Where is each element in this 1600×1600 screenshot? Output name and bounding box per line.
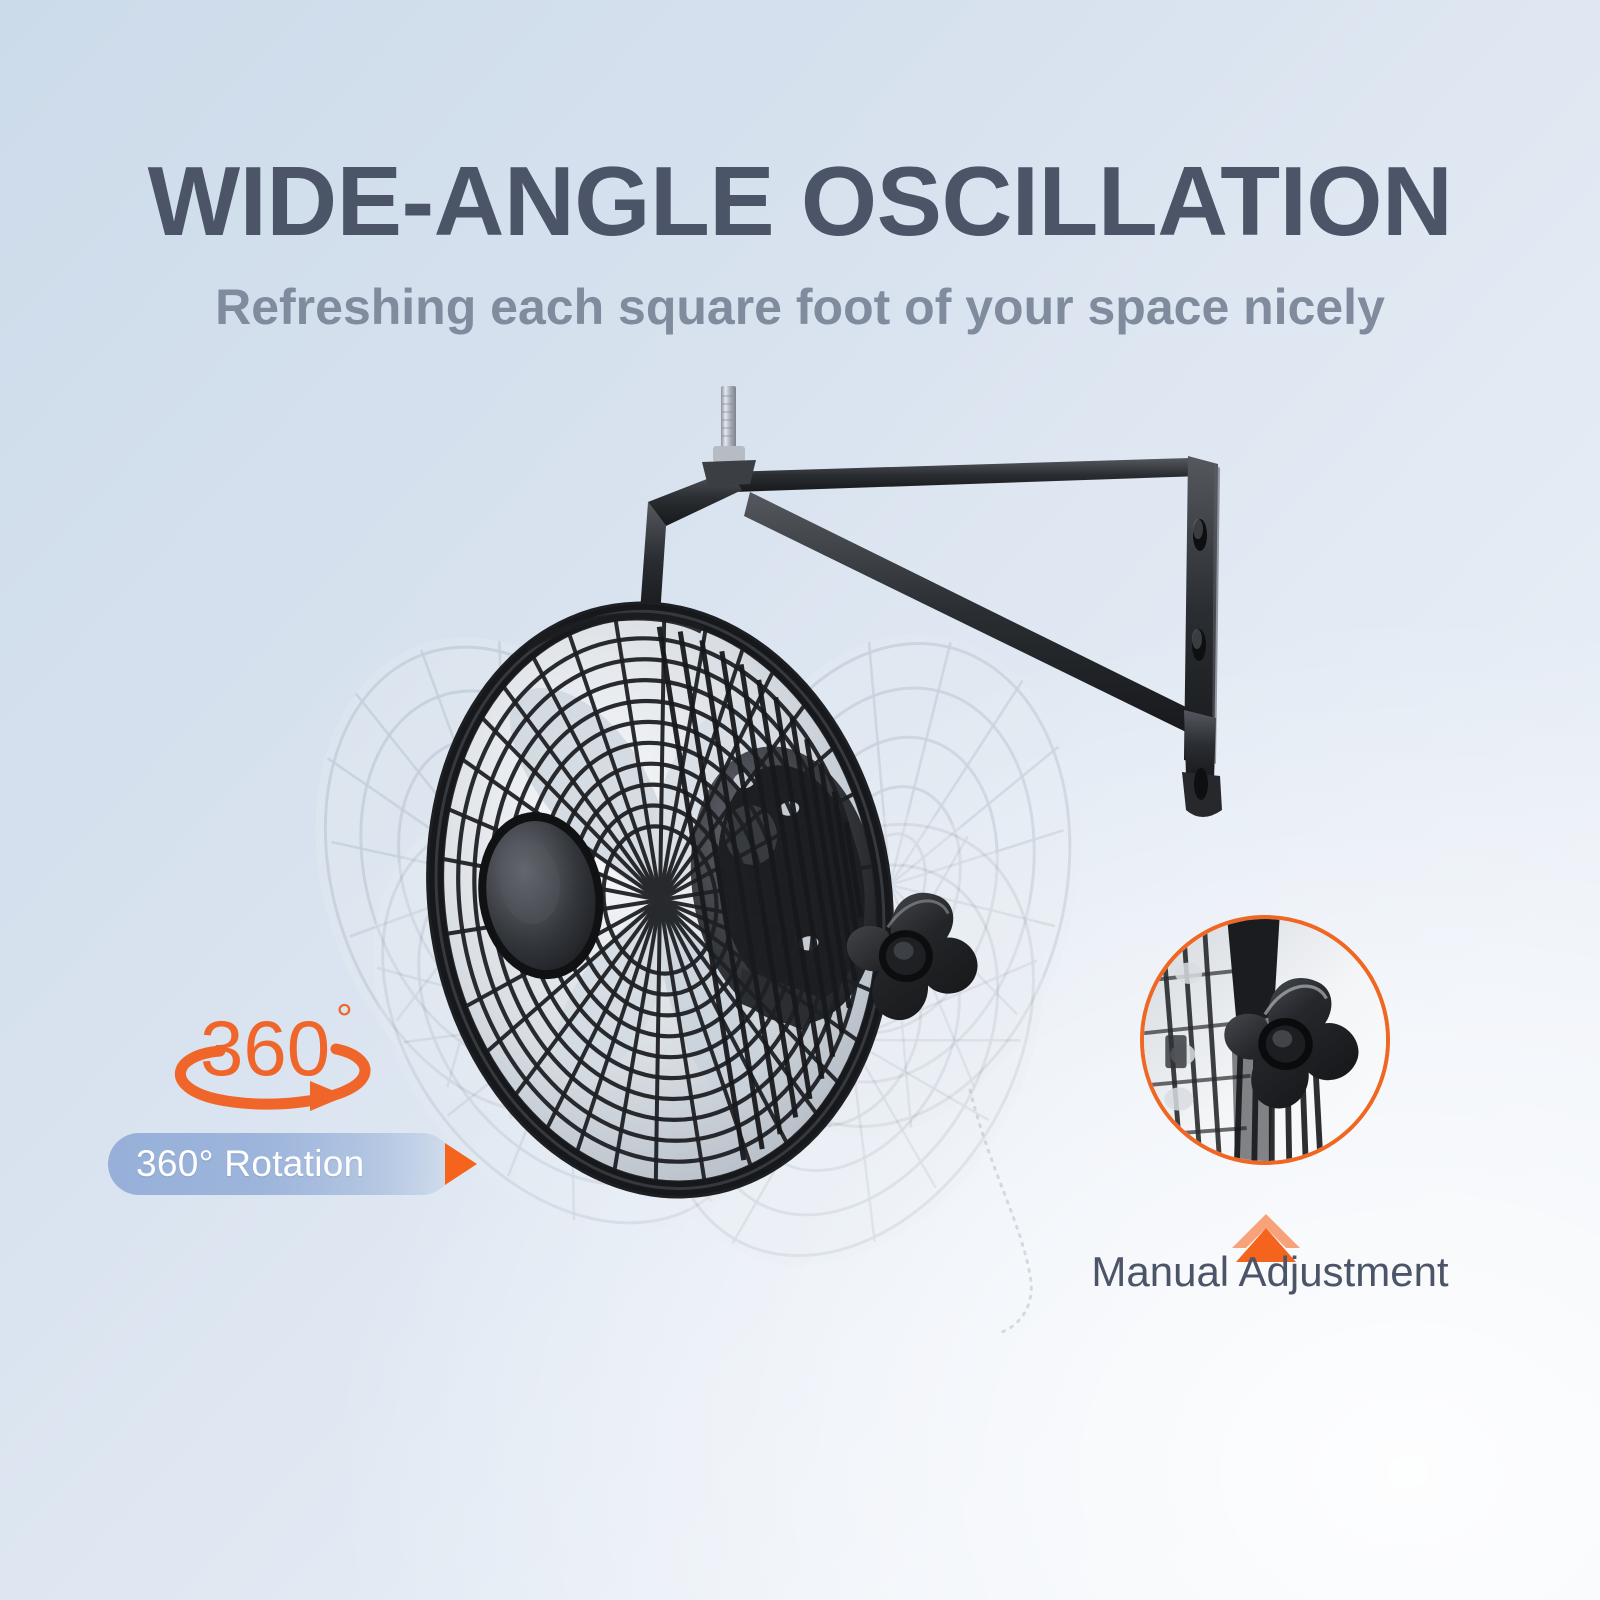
svg-text:360: 360 [200, 1004, 330, 1092]
rotation-pill[interactable]: 360° Rotation [108, 1133, 453, 1195]
triangle-right-icon [445, 1143, 477, 1185]
page-subtitle: Refreshing each square foot of your spac… [0, 278, 1600, 336]
rotation-pill-label: 360° Rotation [108, 1143, 365, 1185]
page-title: WIDE-ANGLE OSCILLATION [0, 152, 1600, 252]
manual-adjustment-callout [1140, 915, 1390, 1165]
callout-label: Manual Adjustment [1020, 1248, 1520, 1296]
marketing-banner: WIDE-ANGLE OSCILLATION Refreshing each s… [0, 0, 1600, 1600]
svg-text:°: ° [336, 995, 353, 1042]
zoom-circle [1140, 915, 1390, 1165]
rotation-badge: 360 ° 360° Rotation [100, 995, 520, 1210]
rotation-arrow-icon: 360 ° [160, 995, 390, 1120]
pivot-bolt [702, 386, 756, 486]
